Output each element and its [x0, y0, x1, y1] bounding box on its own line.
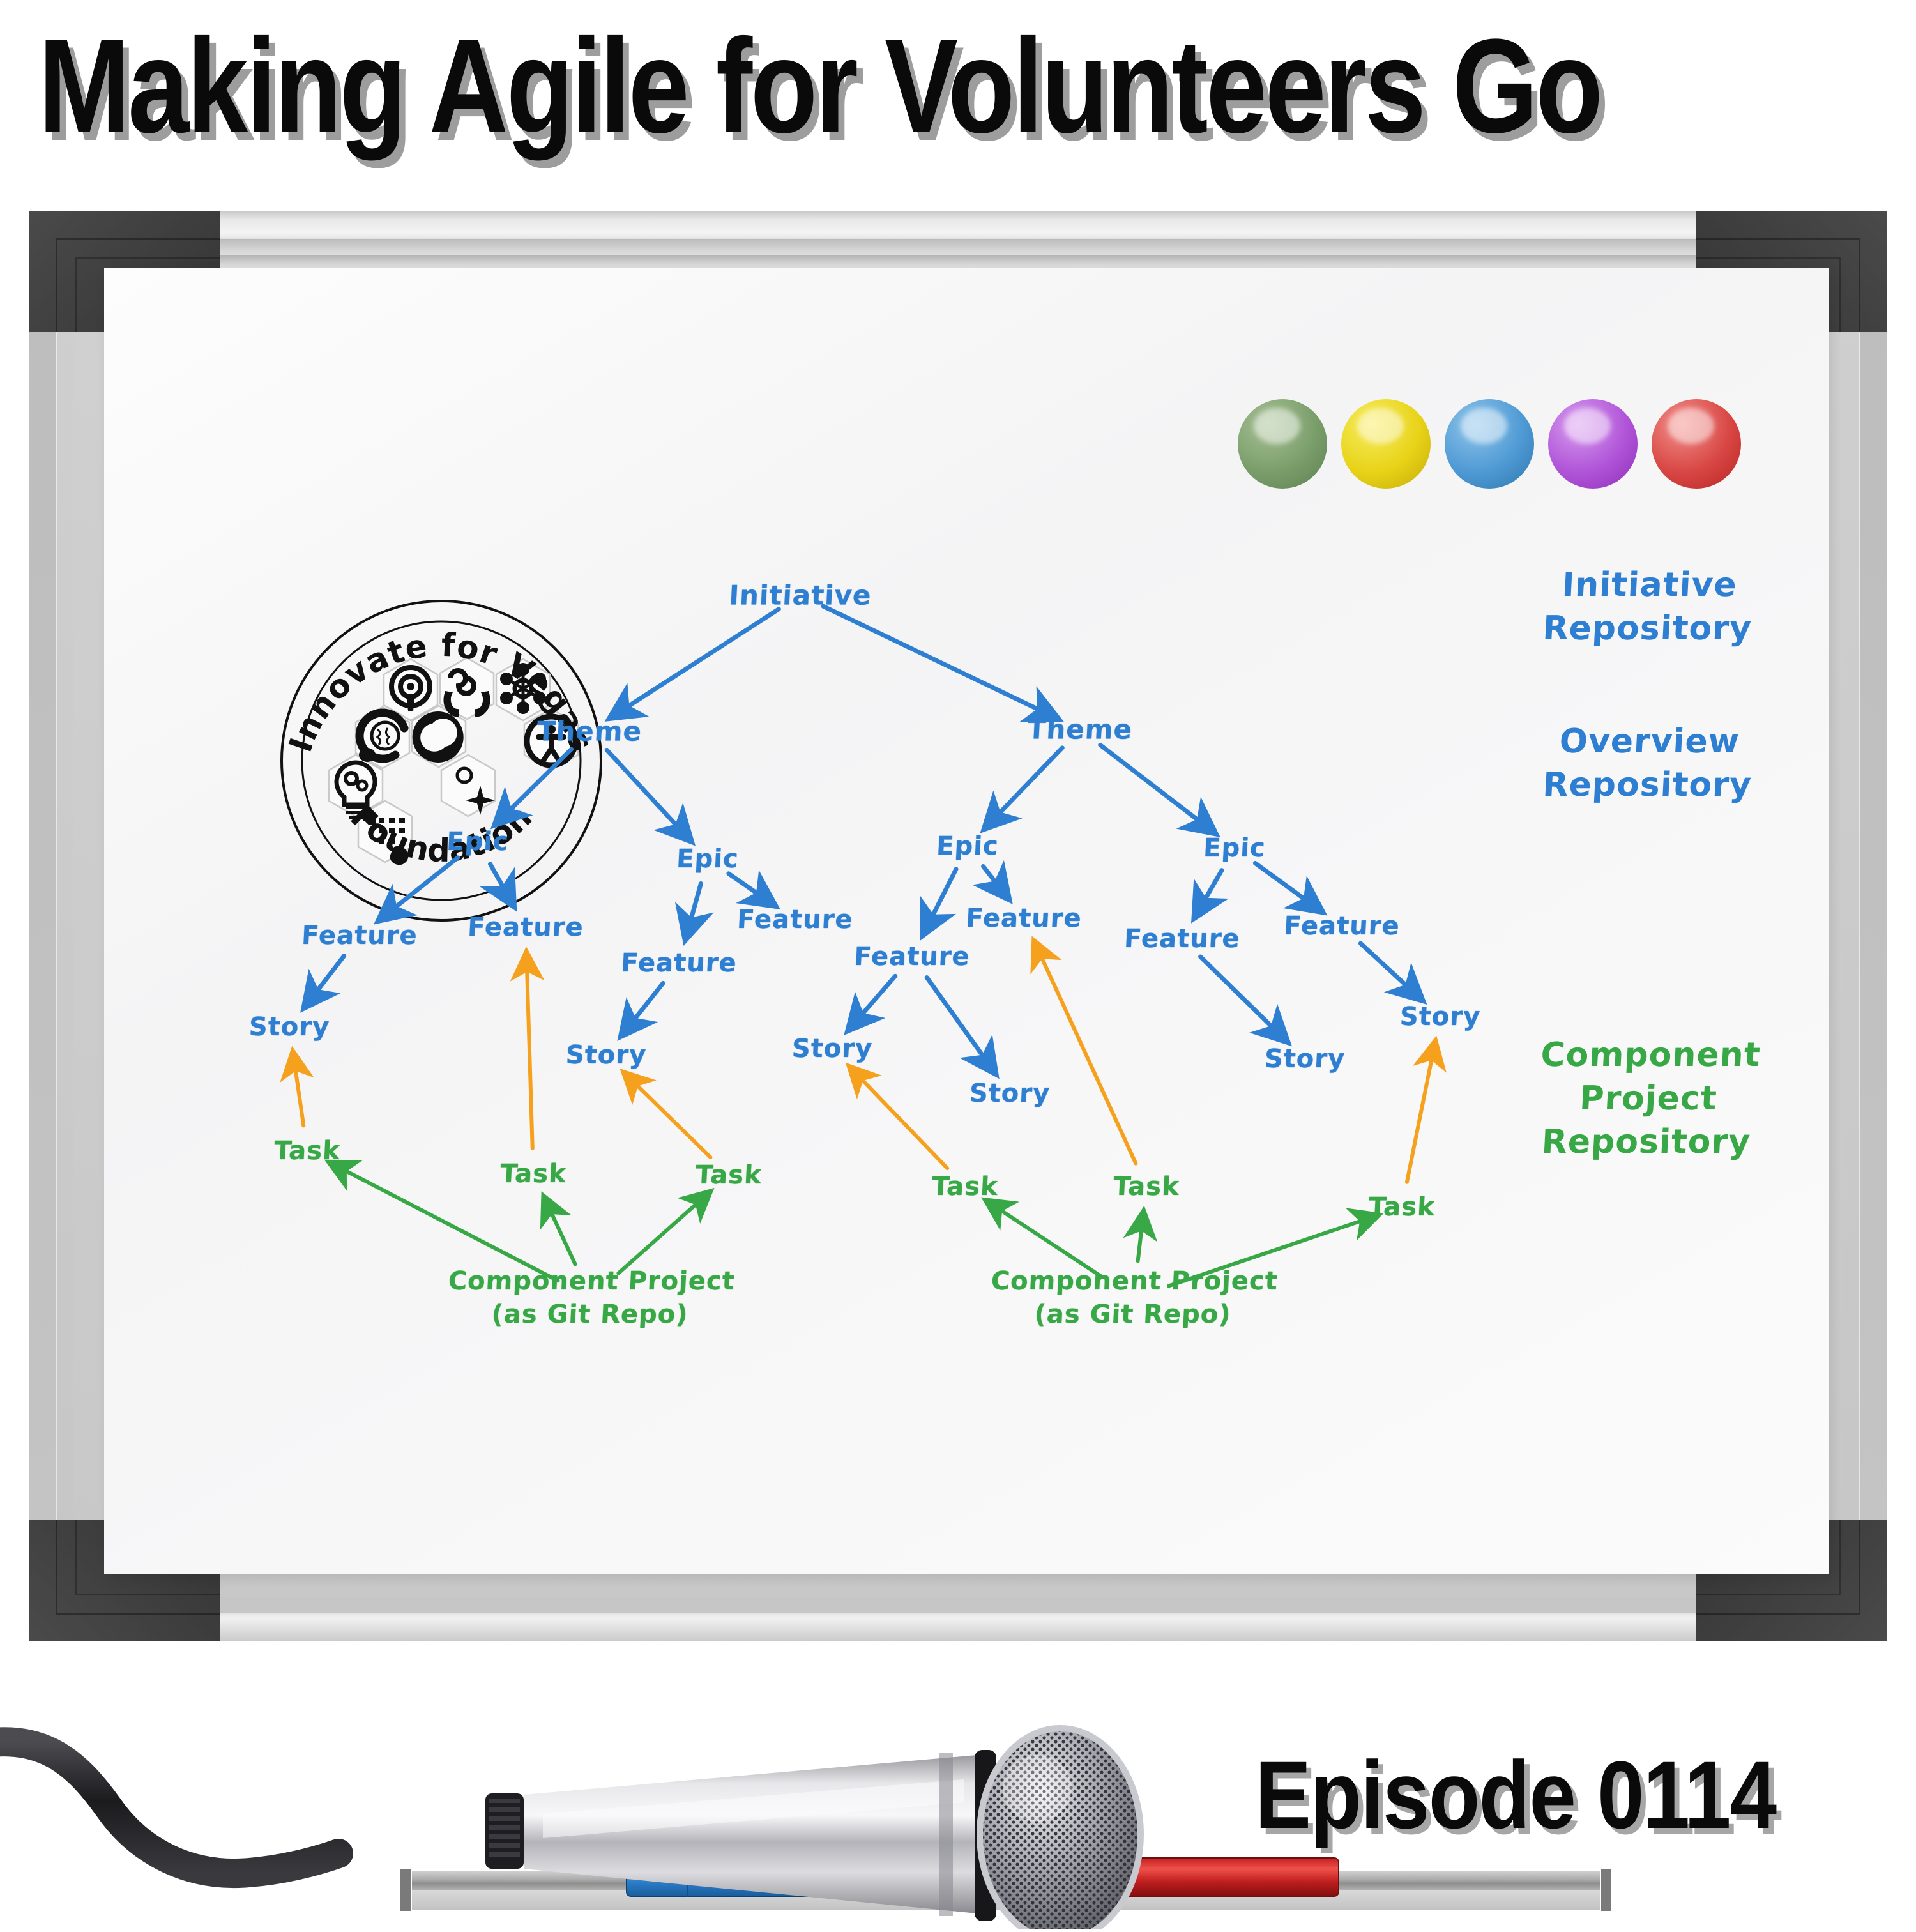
diagram-edge-blue [850, 976, 895, 1028]
diagram-node-feature[interactable]: Feature [467, 913, 584, 942]
diagram-edge-orange [293, 1054, 303, 1126]
legend-line: Project [1537, 1077, 1760, 1120]
svg-text:Foundation: Foundation [344, 798, 540, 869]
diagram-edge-orange [526, 954, 532, 1148]
diagram-node-label: Feature [736, 905, 854, 934]
diagram-node-epic[interactable]: Epic [936, 832, 1000, 861]
diagram-node-task[interactable]: Task [695, 1160, 763, 1190]
diagram-edge-blue [924, 869, 956, 933]
diagram-node-label: Component Project [448, 1265, 736, 1298]
organization-logo: Innovate for Vegas Foundation [262, 579, 620, 936]
diagram-node-theme[interactable]: Theme [1027, 714, 1134, 745]
diagram-edge-blue [686, 884, 701, 938]
diagram-edge-blue [1201, 957, 1286, 1040]
diagram-node-label: Story [565, 1040, 648, 1070]
diagram-edge-orange [1035, 943, 1136, 1163]
magnet-red[interactable] [1652, 399, 1741, 489]
diagram-node-label: Epic [676, 844, 740, 874]
diagram-node-feature[interactable]: Feature [301, 921, 418, 950]
diagram-node-label: (as Git Repo) [989, 1298, 1277, 1331]
diagram-node-story[interactable]: Story [791, 1034, 874, 1063]
diagram-node-epic[interactable]: Epic [1203, 833, 1266, 863]
diagram-node-feature[interactable]: Feature [1123, 924, 1241, 954]
diagram-node-label: Task [499, 1159, 567, 1189]
diagram-node-label: Feature [1283, 911, 1401, 941]
diagram-node-label: Theme [536, 716, 643, 747]
diagram-node-epic[interactable]: Epic [676, 844, 740, 874]
diagram-node-cp[interactable]: Component Project(as Git Repo) [446, 1265, 736, 1331]
diagram-edge-blue [1196, 871, 1222, 916]
diagram-edge-orange [1407, 1043, 1435, 1182]
diagram-node-story[interactable]: Story [969, 1079, 1051, 1108]
diagram-edge-green [545, 1198, 575, 1264]
diagram-node-theme[interactable]: Theme [536, 716, 643, 747]
diagram-node-story[interactable]: Story [565, 1040, 648, 1070]
diagram-node-label: (as Git Repo) [446, 1298, 734, 1331]
diagram-node-label: Story [791, 1034, 874, 1063]
tray-end-right [1601, 1869, 1611, 1911]
diagram-edge-orange [625, 1074, 710, 1157]
diagram-node-label: Epic [446, 827, 510, 856]
diagram-node-label: Feature [1123, 924, 1241, 954]
diagram-node-label: Feature [965, 904, 1083, 933]
legend-component-project: ComponentProjectRepository [1535, 1033, 1762, 1164]
logo-bottom-text: Foundation [344, 798, 540, 869]
legend-initiative: InitiativeRepository [1542, 563, 1755, 650]
diagram-node-story[interactable]: Story [1264, 1044, 1346, 1074]
whiteboard-assembly: Innovate for Vegas Foundation [29, 211, 1887, 1641]
diagram-edge-blue [986, 748, 1062, 827]
diagram-edge-orange [851, 1068, 947, 1168]
diagram-node-label: Task [931, 1172, 999, 1201]
diagram-edge-green [1138, 1213, 1144, 1261]
diagram-node-label: Story [1264, 1044, 1346, 1074]
legend-line: Repository [1542, 763, 1753, 807]
diagram-node-story[interactable]: Story [1399, 1002, 1482, 1031]
diagram-node-label: Story [248, 1012, 331, 1042]
magnet-blue[interactable] [1445, 399, 1534, 489]
diagram-edge-blue [1255, 863, 1320, 911]
microphone [0, 1686, 1194, 1929]
diagram-node-label: Component Project [991, 1265, 1279, 1298]
diagram-node-feature[interactable]: Feature [965, 904, 1083, 933]
diagram-edge-blue [612, 609, 779, 717]
diagram-edge-blue [823, 606, 1056, 718]
diagram-node-label: Epic [1203, 833, 1266, 863]
diagram-edge-blue [984, 867, 1008, 897]
diagram-node-feature[interactable]: Feature [620, 948, 738, 978]
diagram-edge-green [618, 1193, 708, 1274]
diagram-node-label: Theme [1027, 714, 1134, 745]
legend-overview: OverviewRepository [1542, 720, 1755, 807]
diagram-node-feature[interactable]: Feature [1283, 911, 1401, 941]
legend-line: Component [1540, 1033, 1762, 1077]
diagram-node-label: Task [1368, 1192, 1436, 1222]
legend-line: Overview [1544, 720, 1755, 763]
diagram-edge-blue [927, 978, 994, 1072]
diagram-node-feature[interactable]: Feature [736, 905, 854, 934]
diagram-node-label: Story [969, 1079, 1051, 1108]
diagram-edge-blue [1100, 745, 1213, 832]
magnet-purple[interactable] [1548, 399, 1638, 489]
diagram-edge-blue [306, 956, 344, 1006]
diagram-edge-blue [623, 983, 663, 1034]
page-title: Making Agile for Volunteers Go [38, 6, 1452, 166]
diagram-node-label: Feature [301, 921, 418, 950]
diagram-node-label: Story [1399, 1002, 1482, 1031]
diagram-node-task[interactable]: Task [1368, 1192, 1436, 1222]
diagram-node-label: Feature [853, 942, 971, 971]
diagram-node-init[interactable]: Initiative [728, 580, 872, 611]
diagram-node-feature[interactable]: Feature [853, 942, 971, 971]
legend-line: Initiative [1544, 563, 1755, 607]
diagram-node-task[interactable]: Task [1113, 1172, 1180, 1201]
episode-label: Episode 0114 [1255, 1737, 1817, 1865]
diagram-edge-blue [729, 874, 773, 904]
diagram-node-task[interactable]: Task [931, 1172, 999, 1201]
magnet-yellow[interactable] [1341, 399, 1431, 489]
diagram-node-label: Initiative [728, 580, 872, 611]
diagram-node-task[interactable]: Task [499, 1159, 567, 1189]
legend-line: Repository [1535, 1120, 1758, 1164]
diagram-node-label: Feature [467, 913, 584, 942]
whiteboard-surface[interactable]: Innovate for Vegas Foundation [104, 268, 1829, 1574]
diagram-node-label: Task [1113, 1172, 1180, 1201]
diagram-node-epic[interactable]: Epic [446, 827, 510, 856]
magnet-green[interactable] [1238, 399, 1327, 489]
diagram-node-label: Feature [620, 948, 738, 978]
diagram-node-label: Task [273, 1136, 341, 1166]
diagram-node-task[interactable]: Task [273, 1136, 341, 1166]
diagram-node-label: Epic [936, 832, 1000, 861]
diagram-node-story[interactable]: Story [248, 1012, 331, 1042]
legend-line: Repository [1542, 607, 1753, 650]
diagram-edge-blue [1360, 943, 1420, 998]
diagram-node-cp[interactable]: Component Project(as Git Repo) [989, 1265, 1279, 1331]
diagram-node-label: Task [695, 1160, 763, 1190]
